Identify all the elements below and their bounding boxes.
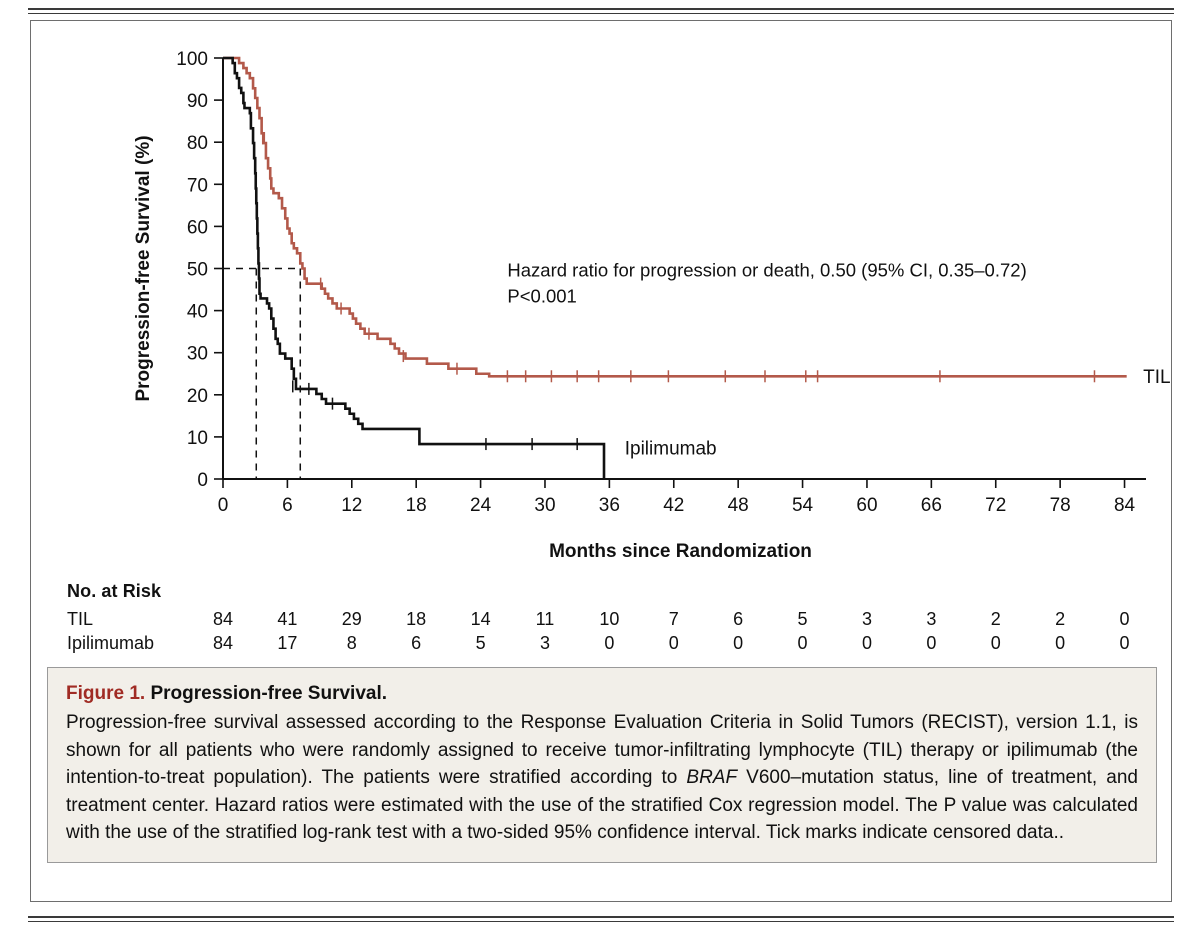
survival-curve-til	[223, 58, 1127, 376]
x-axis-tick-label: 48	[728, 495, 749, 516]
risk-value: 3	[911, 609, 951, 630]
y-axis-tick-label: 70	[187, 175, 208, 196]
risk-row-label: TIL	[67, 609, 93, 630]
y-axis-title: Progression-free Survival (%)	[133, 135, 154, 401]
x-axis-tick-label: 36	[599, 495, 620, 516]
risk-value: 0	[718, 633, 758, 654]
risk-value: 0	[1040, 633, 1080, 654]
hazard-ratio-annotation-line1: Hazard ratio for progression or death, 0…	[507, 260, 1026, 281]
x-axis-tick-label: 18	[406, 495, 427, 516]
caption-heading: Figure 1. Progression-free Survival.	[66, 681, 1138, 706]
y-axis-tick-label: 30	[187, 344, 208, 365]
risk-value: 14	[461, 609, 501, 630]
x-axis-tick-label: 72	[985, 495, 1006, 516]
x-axis-tick-label: 42	[663, 495, 684, 516]
hazard-ratio-annotation-line2: P<0.001	[507, 286, 576, 307]
risk-value: 0	[1105, 633, 1145, 654]
y-axis-tick-label: 20	[187, 386, 208, 407]
top-rule-thin	[28, 13, 1174, 14]
y-axis-tick-label: 40	[187, 302, 208, 323]
x-axis-tick-label: 84	[1114, 495, 1136, 516]
risk-value: 3	[525, 633, 565, 654]
x-axis-tick-label: 54	[792, 495, 814, 516]
figure-page: 0102030405060708090100061218243036424854…	[0, 0, 1200, 935]
risk-value: 7	[654, 609, 694, 630]
caption-figure-label: Figure 1.	[66, 683, 145, 704]
kaplan-meier-chart: 0102030405060708090100061218243036424854…	[31, 21, 1171, 661]
figure-frame: 0102030405060708090100061218243036424854…	[30, 20, 1172, 902]
risk-value: 84	[203, 633, 243, 654]
risk-value: 0	[654, 633, 694, 654]
risk-value: 0	[783, 633, 823, 654]
y-axis-tick-label: 90	[187, 91, 208, 112]
top-rule-thick	[28, 8, 1174, 10]
risk-row-til: TIL 8441291814111076533220	[31, 609, 1173, 633]
risk-value: 0	[847, 633, 887, 654]
risk-row-label: Ipilimumab	[67, 633, 154, 654]
x-axis-title: Months since Randomization	[549, 541, 812, 562]
risk-value: 6	[396, 633, 436, 654]
y-axis-tick-label: 60	[187, 217, 208, 238]
risk-value: 6	[718, 609, 758, 630]
x-axis-tick-label: 60	[856, 495, 877, 516]
y-axis-tick-label: 50	[187, 260, 208, 281]
risk-value: 8	[332, 633, 372, 654]
caption-text-italic: BRAF	[686, 767, 737, 788]
x-axis-tick-label: 66	[921, 495, 942, 516]
bottom-rule-thin	[28, 921, 1174, 922]
y-axis-tick-label: 10	[187, 428, 208, 449]
risk-value: 84	[203, 609, 243, 630]
plot-area: 0102030405060708090100061218243036424854…	[31, 21, 1173, 661]
figure-caption: Figure 1. Progression-free Survival. Pro…	[47, 667, 1157, 863]
caption-figure-title: Progression-free Survival.	[150, 683, 387, 704]
risk-value: 0	[976, 633, 1016, 654]
risk-value: 5	[461, 633, 501, 654]
bottom-rule-thick	[28, 916, 1174, 918]
risk-value: 10	[589, 609, 629, 630]
risk-value: 41	[267, 609, 307, 630]
risk-value: 11	[525, 609, 565, 630]
risk-table-title: No. at Risk	[67, 581, 161, 602]
risk-value: 5	[783, 609, 823, 630]
risk-row-ipilimumab: Ipilimumab 84178653000000000	[31, 633, 1173, 657]
risk-value: 29	[332, 609, 372, 630]
risk-value: 2	[1040, 609, 1080, 630]
risk-value: 0	[589, 633, 629, 654]
x-axis-tick-label: 30	[534, 495, 555, 516]
x-axis-tick-label: 78	[1050, 495, 1071, 516]
x-axis-tick-label: 12	[341, 495, 362, 516]
y-axis-tick-label: 100	[176, 49, 208, 70]
risk-value: 18	[396, 609, 436, 630]
y-axis-tick-label: 0	[197, 470, 208, 491]
y-axis-tick-label: 80	[187, 133, 208, 154]
risk-value: 2	[976, 609, 1016, 630]
risk-value: 0	[1105, 609, 1145, 630]
curve-label-til: TIL	[1143, 367, 1170, 388]
x-axis-tick-label: 0	[218, 495, 229, 516]
risk-value: 0	[911, 633, 951, 654]
risk-value: 17	[267, 633, 307, 654]
curve-label-ipilimumab: Ipilimumab	[625, 438, 717, 459]
x-axis-tick-label: 24	[470, 495, 492, 516]
risk-value: 3	[847, 609, 887, 630]
x-axis-tick-label: 6	[282, 495, 293, 516]
caption-body: Progression-free survival assessed accor…	[66, 709, 1138, 847]
